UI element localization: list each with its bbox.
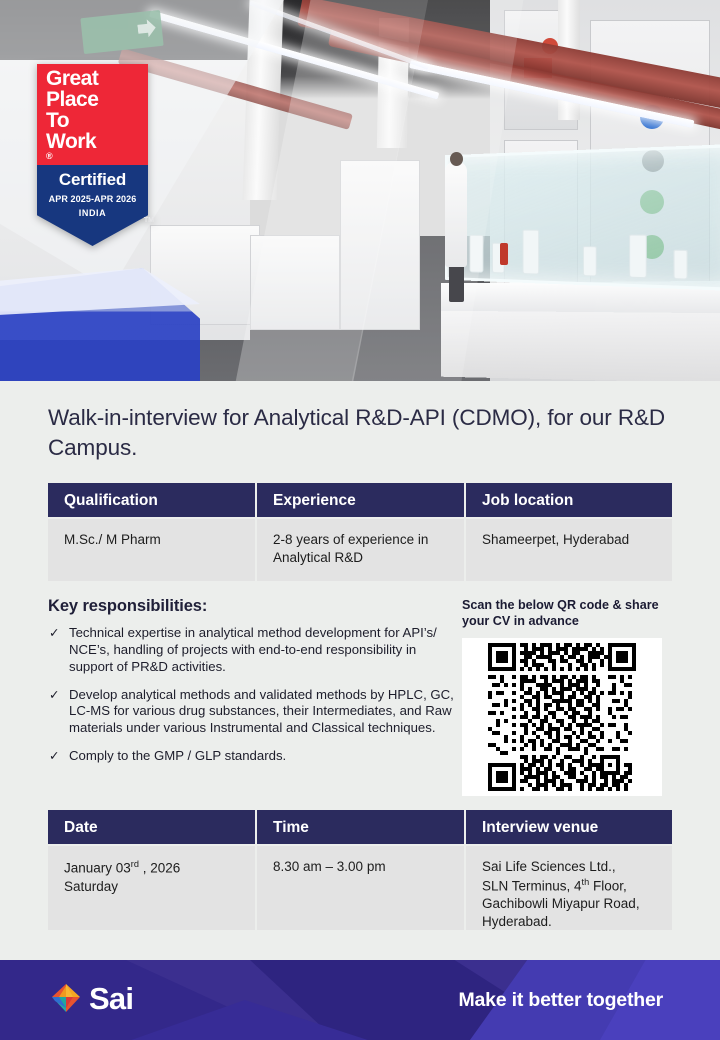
column-header-interview-venue: Interview venue bbox=[466, 810, 672, 844]
fire-extinguisher-icon bbox=[500, 243, 508, 265]
page-title: Walk-in-interview for Analytical R&D-API… bbox=[48, 403, 672, 463]
scientist-labcoat bbox=[445, 162, 467, 267]
lab-cabinet bbox=[340, 160, 420, 330]
cell-qualification: M.Sc./ M Pharm bbox=[48, 519, 255, 581]
qr-code-icon bbox=[467, 643, 657, 791]
qr-instruction-label: Scan the below QR code & share your CV i… bbox=[462, 597, 672, 630]
date-year: , 2026 bbox=[139, 861, 180, 876]
venue-line-2b: Floor, bbox=[589, 879, 627, 894]
column-header-date: Date bbox=[48, 810, 255, 844]
date-ordinal-suffix: rd bbox=[131, 859, 139, 869]
cell-date: January 03rd , 2026 Saturday bbox=[48, 846, 255, 930]
lab-bottle bbox=[629, 234, 647, 278]
schedule-table: Date Time Interview venue January 03rd ,… bbox=[48, 810, 672, 930]
list-item-text: Comply to the GMP / GLP standards. bbox=[69, 748, 286, 763]
registered-mark-icon: ® bbox=[46, 152, 148, 161]
list-item: ✓ Develop analytical methods and validat… bbox=[48, 687, 458, 738]
check-icon: ✓ bbox=[49, 687, 59, 703]
venue-line-2a: SLN Terminus, 4 bbox=[482, 879, 582, 894]
badge-line-1: Great bbox=[46, 68, 148, 89]
list-item-text: Technical expertise in analytical method… bbox=[69, 625, 437, 674]
column-header-qualification: Qualification bbox=[48, 483, 255, 517]
poster-content: Walk-in-interview for Analytical R&D-API… bbox=[0, 403, 720, 930]
badge-validity: APR 2025-APR 2026 bbox=[37, 194, 148, 204]
cell-venue: Sai Life Sciences Ltd., SLN Terminus, 4t… bbox=[466, 846, 672, 930]
list-item: ✓ Technical expertise in analytical meth… bbox=[48, 625, 458, 676]
company-logo: Sai bbox=[50, 982, 133, 1014]
lab-bottle bbox=[583, 246, 597, 277]
date-weekday: Saturday bbox=[64, 879, 118, 894]
date-main: January 03 bbox=[64, 861, 131, 876]
responsibilities-and-qr-section: Key responsibilities: ✓ Technical expert… bbox=[48, 597, 672, 796]
table-row: M.Sc./ M Pharm 2-8 years of experience i… bbox=[48, 519, 672, 581]
column-header-experience: Experience bbox=[257, 483, 464, 517]
lab-bottle bbox=[673, 250, 687, 280]
check-icon: ✓ bbox=[49, 748, 59, 764]
job-info-table-header: Qualification Experience Job location bbox=[48, 483, 672, 517]
job-info-table: Qualification Experience Job location M.… bbox=[48, 483, 672, 581]
list-item: ✓ Comply to the GMP / GLP standards. bbox=[48, 748, 458, 765]
cell-experience: 2-8 years of experience in Analytical R&… bbox=[257, 519, 464, 581]
column-header-job-location: Job location bbox=[466, 483, 672, 517]
badge-blue-panel: Certified APR 2025-APR 2026 INDIA bbox=[37, 165, 148, 246]
badge-country: INDIA bbox=[37, 208, 148, 218]
trademark-icon: TM bbox=[144, 217, 154, 224]
table-row: January 03rd , 2026 Saturday 8.30 am – 3… bbox=[48, 846, 672, 930]
badge-line-2: Place bbox=[46, 89, 148, 110]
cell-time: 8.30 am – 3.00 pm bbox=[257, 846, 464, 930]
lab-bottle bbox=[523, 230, 540, 275]
lab-bottle bbox=[470, 235, 484, 273]
logo-wordmark: Sai bbox=[89, 983, 133, 1014]
column-header-time: Time bbox=[257, 810, 464, 844]
lab-cabinet bbox=[250, 235, 340, 330]
venue-line-1: Sai Life Sciences Ltd., bbox=[482, 859, 616, 874]
schedule-table-header: Date Time Interview venue bbox=[48, 810, 672, 844]
cell-job-location: Shameerpet, Hyderabad bbox=[466, 519, 672, 581]
badge-line-4: Work® bbox=[46, 131, 148, 161]
hero-image: Great Place To Work® Certified APR 2025-… bbox=[0, 0, 720, 381]
qr-code[interactable] bbox=[462, 638, 662, 796]
glass-fume-hood bbox=[445, 144, 720, 291]
qr-code-block: Scan the below QR code & share your CV i… bbox=[458, 597, 672, 796]
venue-line-4: Hyderabad. bbox=[482, 914, 552, 929]
badge-certified-label: Certified bbox=[37, 170, 148, 190]
check-icon: ✓ bbox=[49, 625, 59, 641]
scientist-head bbox=[450, 152, 463, 166]
responsibilities-title: Key responsibilities: bbox=[48, 597, 458, 616]
badge-line-3: To bbox=[46, 110, 148, 131]
sai-diamond-logo-icon bbox=[50, 982, 82, 1014]
great-place-to-work-badge: Great Place To Work® Certified APR 2025-… bbox=[37, 64, 148, 246]
badge-red-panel: Great Place To Work® bbox=[37, 64, 148, 165]
footer-bar: Sai Make it better together bbox=[0, 960, 720, 1040]
list-item-text: Develop analytical methods and validated… bbox=[69, 687, 454, 736]
responsibilities-list: ✓ Technical expertise in analytical meth… bbox=[48, 625, 458, 765]
venue-line-3: Gachibowli Miyapur Road, bbox=[482, 896, 640, 911]
footer-tagline: Make it better together bbox=[458, 989, 663, 1012]
key-responsibilities-block: Key responsibilities: ✓ Technical expert… bbox=[48, 597, 458, 796]
